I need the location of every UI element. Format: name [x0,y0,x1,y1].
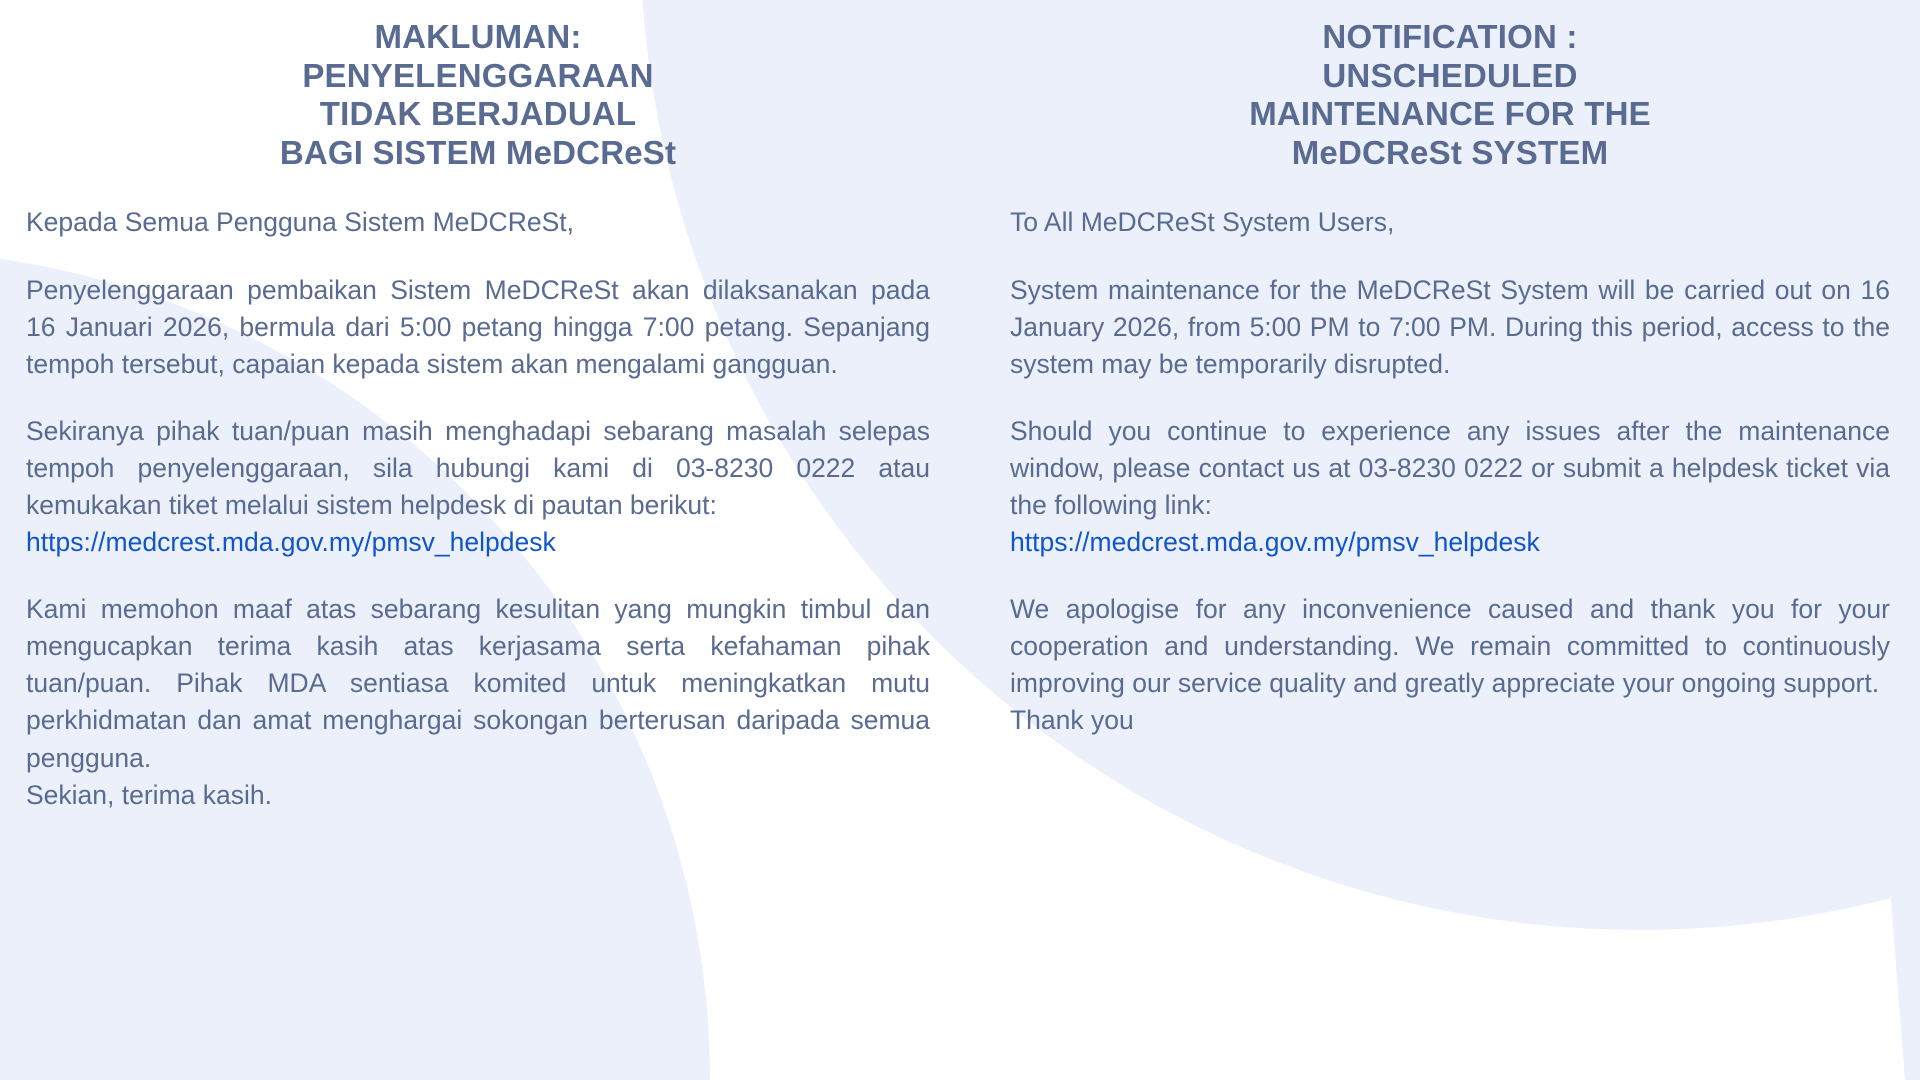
bilingual-columns: MAKLUMAN: PENYELENGGARAAN TIDAK BERJADUA… [0,0,1920,1080]
malay-body: Kepada Semua Pengguna Sistem MeDCReSt, P… [26,204,930,813]
malay-paragraph-2-text: Sekiranya pihak tuan/puan masih menghada… [26,416,930,520]
malay-salutation: Kepada Semua Pengguna Sistem MeDCReSt, [26,204,930,241]
column-malay: MAKLUMAN: PENYELENGGARAAN TIDAK BERJADUA… [0,18,960,1080]
english-title: NOTIFICATION : UNSCHEDULED MAINTENANCE F… [1010,18,1890,172]
english-body: To All MeDCReSt System Users, System mai… [1010,204,1890,739]
malay-paragraph-3: Kami memohon maaf atas sebarang kesulita… [26,591,930,814]
english-paragraph-2-text: Should you continue to experience any is… [1010,416,1890,520]
english-paragraph-2: Should you continue to experience any is… [1010,413,1890,561]
english-closing: Thank you [1010,702,1890,739]
maintenance-notification-banner: MAKLUMAN: PENYELENGGARAAN TIDAK BERJADUA… [0,0,1920,1080]
english-paragraph-3: We apologise for any inconvenience cause… [1010,591,1890,739]
malay-title: MAKLUMAN: PENYELENGGARAAN TIDAK BERJADUA… [26,18,930,172]
malay-paragraph-3-text: Kami memohon maaf atas sebarang kesulita… [26,594,930,772]
malay-paragraph-2: Sekiranya pihak tuan/puan masih menghada… [26,413,930,561]
english-salutation: To All MeDCReSt System Users, [1010,204,1890,241]
malay-helpdesk-link[interactable]: https://medcrest.mda.gov.my/pmsv_helpdes… [26,524,930,561]
english-paragraph-3-text: We apologise for any inconvenience cause… [1010,594,1890,698]
malay-closing: Sekian, terima kasih. [26,777,930,814]
english-helpdesk-link[interactable]: https://medcrest.mda.gov.my/pmsv_helpdes… [1010,524,1890,561]
column-english: NOTIFICATION : UNSCHEDULED MAINTENANCE F… [960,18,1920,1080]
english-paragraph-1: System maintenance for the MeDCReSt Syst… [1010,272,1890,383]
malay-paragraph-1: Penyelenggaraan pembaikan Sistem MeDCReS… [26,272,930,383]
